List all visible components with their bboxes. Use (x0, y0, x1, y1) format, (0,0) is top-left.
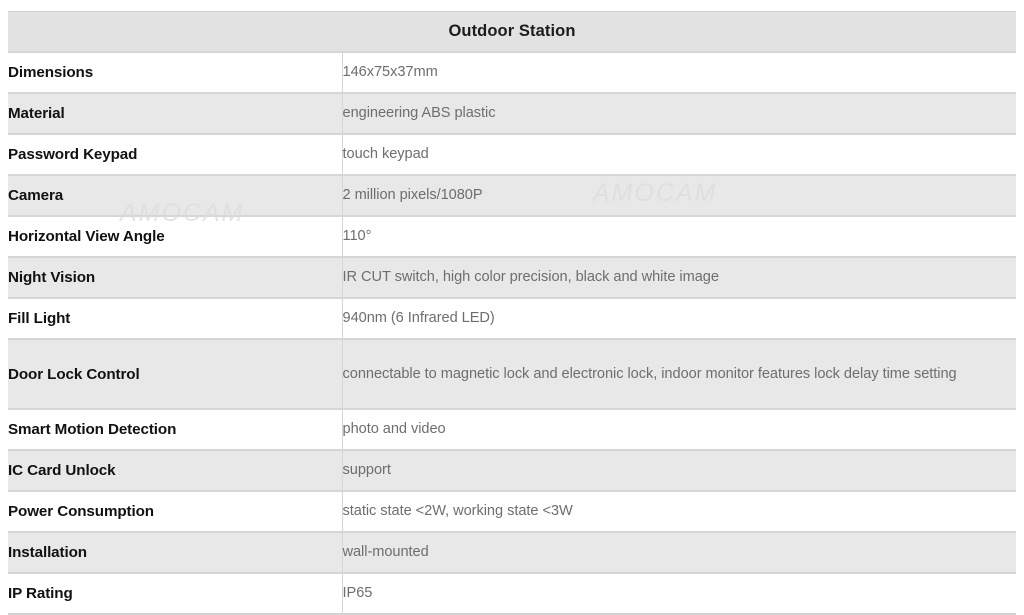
table-title: Outdoor Station (8, 12, 1016, 53)
row-value: 146x75x37mm (342, 52, 1016, 93)
row-label: IP Rating (8, 573, 342, 614)
row-label: IC Card Unlock (8, 450, 342, 491)
table-row: IP RatingIP65 (8, 573, 1016, 614)
table-row: Password Keypadtouch keypad (8, 134, 1016, 175)
row-label: Night Vision (8, 257, 342, 298)
table-row: Horizontal View Angle110° (8, 216, 1016, 257)
row-value: 2 million pixels/1080P (342, 175, 1016, 216)
row-value: static state <2W, working state <3W (342, 491, 1016, 532)
row-label: Smart Motion Detection (8, 409, 342, 450)
row-label: Horizontal View Angle (8, 216, 342, 257)
row-label: Power Consumption (8, 491, 342, 532)
outdoor-station-spec-table: Outdoor Station Dimensions146x75x37mmMat… (8, 11, 1016, 615)
row-label: Password Keypad (8, 134, 342, 175)
row-value: 110° (342, 216, 1016, 257)
table-row: Power Consumptionstatic state <2W, worki… (8, 491, 1016, 532)
table-row: Installationwall-mounted (8, 532, 1016, 573)
row-label: Material (8, 93, 342, 134)
row-label: Door Lock Control (8, 339, 342, 409)
row-label: Dimensions (8, 52, 342, 93)
table-row: Fill Light940nm (6 Infrared LED) (8, 298, 1016, 339)
table-row: Door Lock Controlconnectable to magnetic… (8, 339, 1016, 409)
table-row: Smart Motion Detectionphoto and video (8, 409, 1016, 450)
row-value: photo and video (342, 409, 1016, 450)
row-label: Installation (8, 532, 342, 573)
row-value: IP65 (342, 573, 1016, 614)
table-row: Dimensions146x75x37mm (8, 52, 1016, 93)
table-body: Dimensions146x75x37mmMaterialengineering… (8, 52, 1016, 614)
row-value: touch keypad (342, 134, 1016, 175)
row-value: engineering ABS plastic (342, 93, 1016, 134)
table-row: IC Card Unlocksupport (8, 450, 1016, 491)
table-row: Materialengineering ABS plastic (8, 93, 1016, 134)
spec-table-container: AMOCAM AMOCAM Outdoor Station Dimensions… (8, 11, 1016, 615)
row-value: support (342, 450, 1016, 491)
row-label: Camera (8, 175, 342, 216)
table-row: Night VisionIR CUT switch, high color pr… (8, 257, 1016, 298)
table-header-row: Outdoor Station (8, 12, 1016, 53)
row-label: Fill Light (8, 298, 342, 339)
table-row: Camera2 million pixels/1080P (8, 175, 1016, 216)
row-value: connectable to magnetic lock and electro… (342, 339, 1016, 409)
row-value: 940nm (6 Infrared LED) (342, 298, 1016, 339)
row-value: IR CUT switch, high color precision, bla… (342, 257, 1016, 298)
row-value: wall-mounted (342, 532, 1016, 573)
